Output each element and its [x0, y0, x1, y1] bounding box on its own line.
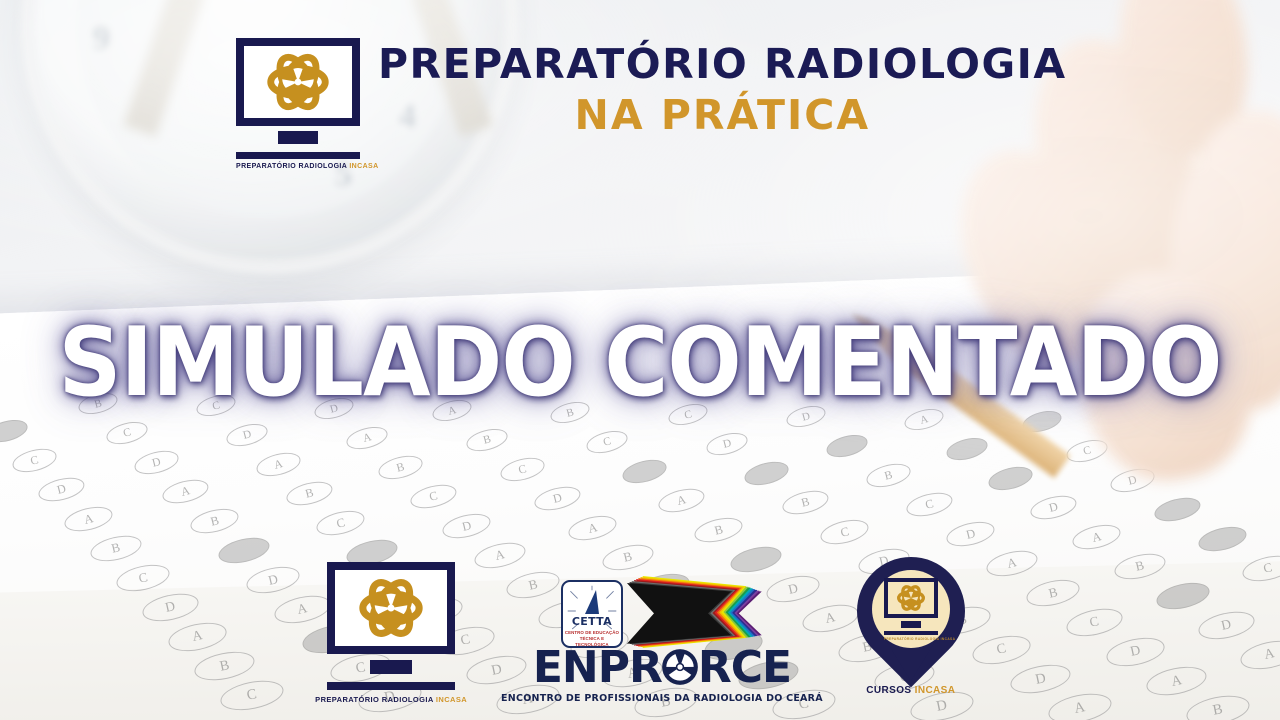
header-logo-caption-accent: INCASA	[349, 163, 378, 170]
brand-cursos-incasa: PREPARATÓRIO RADIOLOGIA INCASA CURSOS IN…	[857, 557, 965, 696]
brand-enprorce: CETTA CENTRO DE EDUCAÇÃO TÉCNICA E TECNO…	[501, 576, 823, 704]
pin-caption-accent: INCASA	[915, 685, 956, 696]
cetta-name: CETTA	[572, 615, 612, 628]
brand-caption-accent: INCASA	[436, 695, 467, 704]
brand-caption-main: PREPARATÓRIO RADIOLOGIA	[315, 695, 433, 704]
header-line-1: PREPARATÓRIO RADIOLOGIA	[378, 44, 1067, 85]
header-logo: PREPARATÓRIO RADIOLOGIA INCASA	[236, 38, 360, 170]
pin-inner-circle: PREPARATÓRIO RADIOLOGIA INCASA	[872, 570, 950, 648]
enprorce-wordmark-part2: RCE	[698, 646, 791, 690]
rainbow-chevron-fan-icon	[627, 576, 763, 648]
footer-brand-row: PREPARATÓRIO RADIOLOGIA INCASA	[0, 557, 1280, 704]
radiation-icon	[661, 648, 699, 686]
header-line-2: NA PRÁTICA	[378, 95, 1067, 136]
atom-radiation-icon	[359, 576, 423, 640]
cetta-logo: CETTA CENTRO DE EDUCAÇÃO TÉCNICA E TECNO…	[561, 580, 623, 648]
page-title: SIMULADO COMENTADO	[51, 316, 1229, 411]
brand-incasa-monitor: PREPARATÓRIO RADIOLOGIA INCASA	[315, 562, 467, 704]
cetta-sub-line-2: TÉCNICA E TECNOLÓGICA	[563, 636, 621, 648]
pin-caption-main: CURSOS	[866, 685, 911, 696]
header-logo-caption-main: PREPARATÓRIO RADIOLOGIA	[236, 163, 347, 170]
pin-inner-caption: PREPARATÓRIO RADIOLOGIA INCASA	[884, 637, 938, 641]
atom-radiation-icon	[267, 51, 329, 113]
enprorce-wordmark: ENPR RCE	[533, 646, 791, 690]
atom-radiation-icon	[897, 584, 925, 612]
cetta-sail-icon	[585, 590, 599, 614]
map-pin-logo: PREPARATÓRIO RADIOLOGIA INCASA	[857, 557, 965, 681]
thumbnail-canvas: 12 1 2 3 4 5 11 10 9 ABCDABCDABBCDABCDAB…	[0, 0, 1280, 720]
header: PREPARATÓRIO RADIOLOGIA INCASA PREPARATÓ…	[236, 38, 1067, 170]
enprorce-subtitle: ENCONTRO DE PROFISSIONAIS DA RADIOLOGIA …	[501, 693, 823, 704]
enprorce-wordmark-part1: ENPR	[533, 646, 662, 690]
